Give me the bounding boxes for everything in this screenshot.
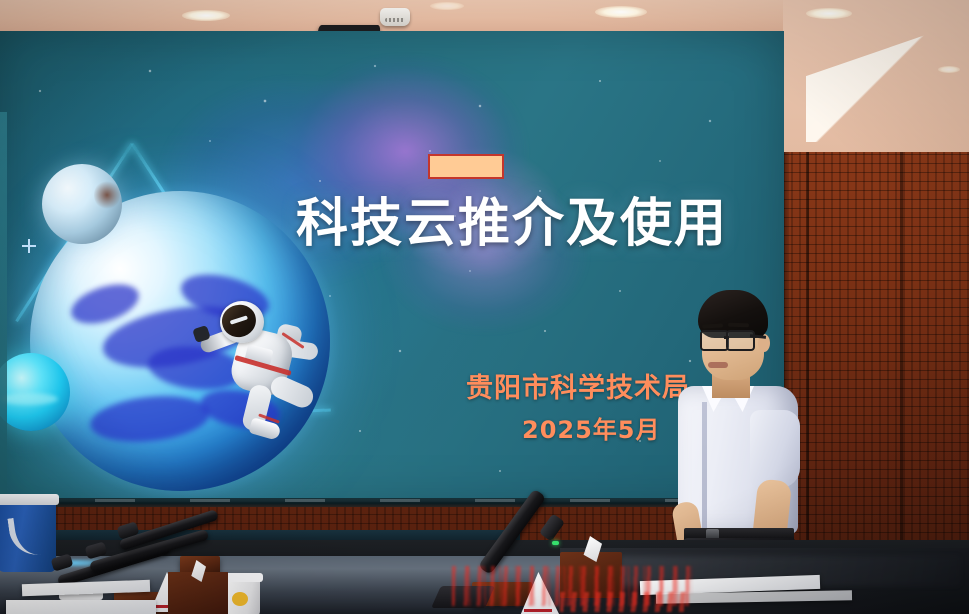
smoke-detector-icon [380, 8, 410, 26]
waste-bin [0, 500, 56, 572]
moon-graphic [42, 164, 122, 244]
astronaut-graphic [198, 289, 328, 444]
presenter-shirt-placket [702, 402, 707, 532]
star-sparkle-icon [22, 239, 36, 253]
recessed-downlight-icon [938, 66, 960, 73]
presenter-mouth [708, 362, 728, 368]
microphone-status-led-icon [552, 541, 559, 545]
presenter-eyebrow [728, 323, 749, 328]
glasses-bridge [724, 336, 729, 339]
glasses-icon [726, 330, 755, 351]
slide-title: 科技云推介及使用 [296, 196, 776, 253]
glasses-icon [700, 330, 729, 351]
document-paper [6, 600, 156, 614]
screen-left-edge [0, 112, 7, 512]
presenter-sleeve [750, 410, 800, 488]
conference-room-screenshot: 科技云推介及使用 贵阳市科学技术局 2025年5月 [0, 0, 969, 614]
recessed-downlight-icon [182, 10, 230, 21]
cup-logo-icon [232, 592, 248, 606]
recessed-downlight-icon [430, 2, 464, 10]
led-display-reflection [560, 592, 690, 612]
recessed-downlight-icon [806, 8, 852, 19]
recessed-downlight-icon [595, 6, 647, 18]
slide-accent-bar [428, 154, 504, 179]
